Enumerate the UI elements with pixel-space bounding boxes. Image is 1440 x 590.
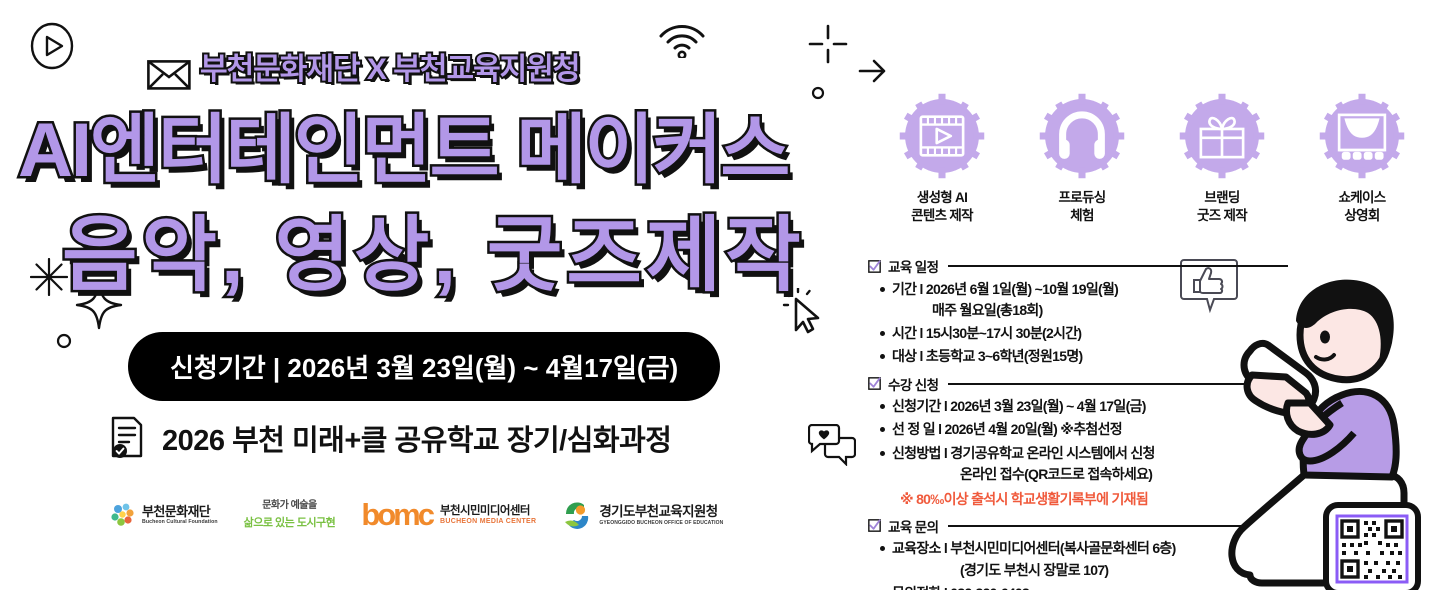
- wifi-icon: [655, 8, 709, 58]
- bullet-text: 신청방법 l 경기공유학교 온라인 시스템에서 신청: [892, 444, 1155, 464]
- headphones-icon: [1038, 92, 1126, 180]
- program-icon-row: 생성형 AI 콘텐츠 제작: [872, 92, 1432, 225]
- logo-label: 부천문화재단: [142, 505, 218, 520]
- bullet-text: 선 정 일 l 2026년 4월 20일(월) ※추첨선정: [892, 420, 1122, 440]
- program-item-showcase: 쇼케이스 상영회: [1296, 92, 1428, 225]
- play-circle-icon: [26, 20, 78, 72]
- bullet-text: 교육장소 l 부천시민미디어센터(복사골문화센터 6층): [892, 539, 1176, 559]
- theater-icon: [1318, 92, 1406, 180]
- program-label: 생성형 AI 콘텐츠 제작: [911, 189, 973, 225]
- program-label-line1: 프로듀싱: [1059, 189, 1106, 207]
- bullet-text: 기간 l 2026년 6월 1일(월) ~10월 19일(월): [892, 280, 1118, 300]
- logo-label: 경기도부천교육지원청: [599, 504, 723, 520]
- bcf-mark-icon: [110, 502, 136, 528]
- program-label-line2: 상영회: [1339, 207, 1386, 225]
- section-header-schedule: 교육 일정: [868, 256, 1288, 276]
- poster-root: 부천문화재단 X 부천교육지원청 AI엔터테인먼트 메이커스 음악, 영상, 굿…: [0, 0, 1440, 590]
- program-item-producing: 프로듀싱 체험: [1016, 92, 1148, 225]
- title-line-2: 음악, 영상, 굿즈제작: [62, 188, 805, 307]
- logo-sublabel: GYEONGGIDO BUCHEON OFFICE OF EDUCATION: [599, 520, 723, 526]
- checkbox-check-icon: [868, 377, 881, 390]
- subtitle-row: 2026 부천 미래+클 공유학교 장기/심화과정: [110, 416, 671, 460]
- slogan-line-2: 삶으로 있는 도시구현: [244, 517, 336, 529]
- title-line-1: AI엔터테인먼트 메이커스: [18, 88, 788, 198]
- bomc-wordmark: bomc: [361, 503, 432, 528]
- logo-bucheon-media-center: bomc 부천시민미디어센터 BUCHEON MEDIA CENTER: [361, 503, 536, 528]
- program-label-line1: 생성형 AI: [911, 189, 973, 207]
- bullet-dot: [880, 451, 885, 456]
- slogan-line-1: 문화가 예술을: [262, 500, 316, 511]
- envelope-icon: [147, 60, 191, 90]
- small-circle-icon: [56, 333, 72, 349]
- bullet-text: 신청기간 l 2026년 3월 23일(월) ~ 4월 17일(금): [892, 397, 1146, 417]
- logo-sublabel: BUCHEON MEDIA CENTER: [440, 518, 536, 525]
- logo-bucheon-cultural-foundation: 부천문화재단 Bucheon Cultural Foundation: [110, 502, 218, 528]
- application-period-pill: 신청기간 | 2026년 3월 23일(월) ~ 4월17일(금): [128, 332, 720, 401]
- program-label-line1: 브랜딩: [1197, 189, 1247, 207]
- subtitle-text: 2026 부천 미래+클 공유학교 장기/심화과정: [162, 417, 671, 459]
- crosshair-icon: [808, 24, 848, 64]
- program-label-line2: 콘텐츠 제작: [911, 207, 973, 225]
- logo-sublabel: Bucheon Cultural Foundation: [142, 519, 218, 525]
- application-period-text: 신청기간 | 2026년 3월 23일(월) ~ 4월17일(금): [170, 348, 678, 385]
- logo-gyeonggido-bucheon-office-of-education: 경기도부천교육지원청 GYEONGGIDO BUCHEON OFFICE OF …: [562, 500, 723, 530]
- checkbox-check-icon: [868, 519, 881, 532]
- bullet-text: 문의전화 l 032-320-6403: [892, 584, 1029, 590]
- bullet-dot: [880, 404, 885, 409]
- bullet-text: 시간 l 15시30분~17시 30분(2시간): [892, 324, 1081, 344]
- logo-city-slogan: 문화가 예술을 삶으로 있는 도시구현: [244, 500, 336, 529]
- program-item-generative-ai: 생성형 AI 콘텐츠 제작: [876, 92, 1008, 225]
- right-column: 생성형 AI 콘텐츠 제작: [860, 0, 1440, 590]
- logo-label: 부천시민미디어센터: [440, 505, 536, 518]
- bullet-dot: [880, 354, 885, 359]
- person-reading-illustration: [1192, 275, 1432, 590]
- program-item-branding: 브랜딩 굿즈 제작: [1156, 92, 1288, 225]
- bullet-dot: [880, 546, 885, 551]
- program-label-line2: 굿즈 제작: [1197, 207, 1247, 225]
- document-check-icon: [110, 416, 146, 460]
- checkbox-check-icon: [868, 260, 881, 273]
- goe-mark-icon: [562, 500, 592, 530]
- left-column: 부천문화재단 X 부천교육지원청 AI엔터테인먼트 메이커스 음악, 영상, 굿…: [0, 0, 860, 590]
- section-title: 교육 일정: [888, 256, 938, 276]
- program-label: 브랜딩 굿즈 제작: [1197, 189, 1247, 225]
- section-title: 수강 신청: [888, 374, 938, 394]
- section-rule: [948, 265, 1288, 267]
- program-label: 프로듀싱 체험: [1059, 189, 1106, 225]
- bullet-dot: [880, 331, 885, 336]
- bullet-dot: [880, 287, 885, 292]
- small-circle-icon: [811, 86, 825, 100]
- section-title: 교육 문의: [888, 516, 938, 536]
- organizer-line: 부천문화재단 X 부천교육지원청: [200, 44, 579, 88]
- film-play-icon: [898, 92, 986, 180]
- bullet-text: 대상 l 초등학교 3~6학년(정원15명): [892, 347, 1082, 367]
- program-label-line1: 쇼케이스: [1339, 189, 1386, 207]
- bullet-dot: [880, 427, 885, 432]
- heart-chat-icon: [808, 424, 856, 466]
- gift-box-icon: [1178, 92, 1266, 180]
- logo-strip: 부천문화재단 Bucheon Cultural Foundation 문화가 예…: [110, 500, 723, 530]
- program-label-line2: 체험: [1059, 207, 1106, 225]
- program-label: 쇼케이스 상영회: [1339, 189, 1386, 225]
